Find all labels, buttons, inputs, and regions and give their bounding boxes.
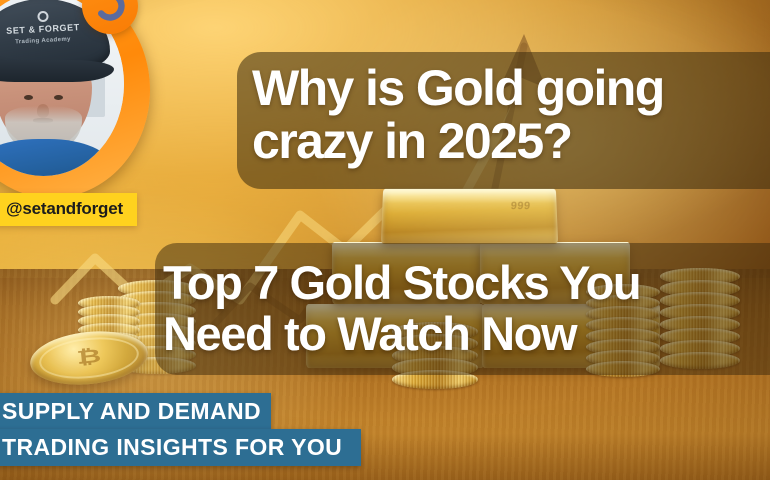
page-title: Why is Gold going crazy in 2025? [252, 62, 770, 168]
banner-supply-and-demand: SUPPLY AND DEMAND [0, 393, 271, 429]
handle-badge: @setandforget [0, 193, 137, 226]
avatar: SET & FORGET Trading Academy [0, 0, 150, 198]
refresh-circle-icon [93, 0, 127, 23]
thumbnail-canvas: 999 ₿ [0, 0, 770, 480]
photo-eye-left [24, 95, 33, 100]
cap-text-primary: SET & FORGET [6, 22, 80, 36]
cap-text-secondary: Trading Academy [15, 36, 71, 45]
banner-trading-insights: TRADING INSIGHTS FOR YOU [0, 429, 361, 466]
circle-logo-icon [38, 11, 49, 22]
photo-eye-right [54, 95, 63, 100]
photo-cap-brim [0, 60, 114, 82]
subhead-title: Top 7 Gold Stocks You Need to Watch Now [163, 258, 770, 360]
